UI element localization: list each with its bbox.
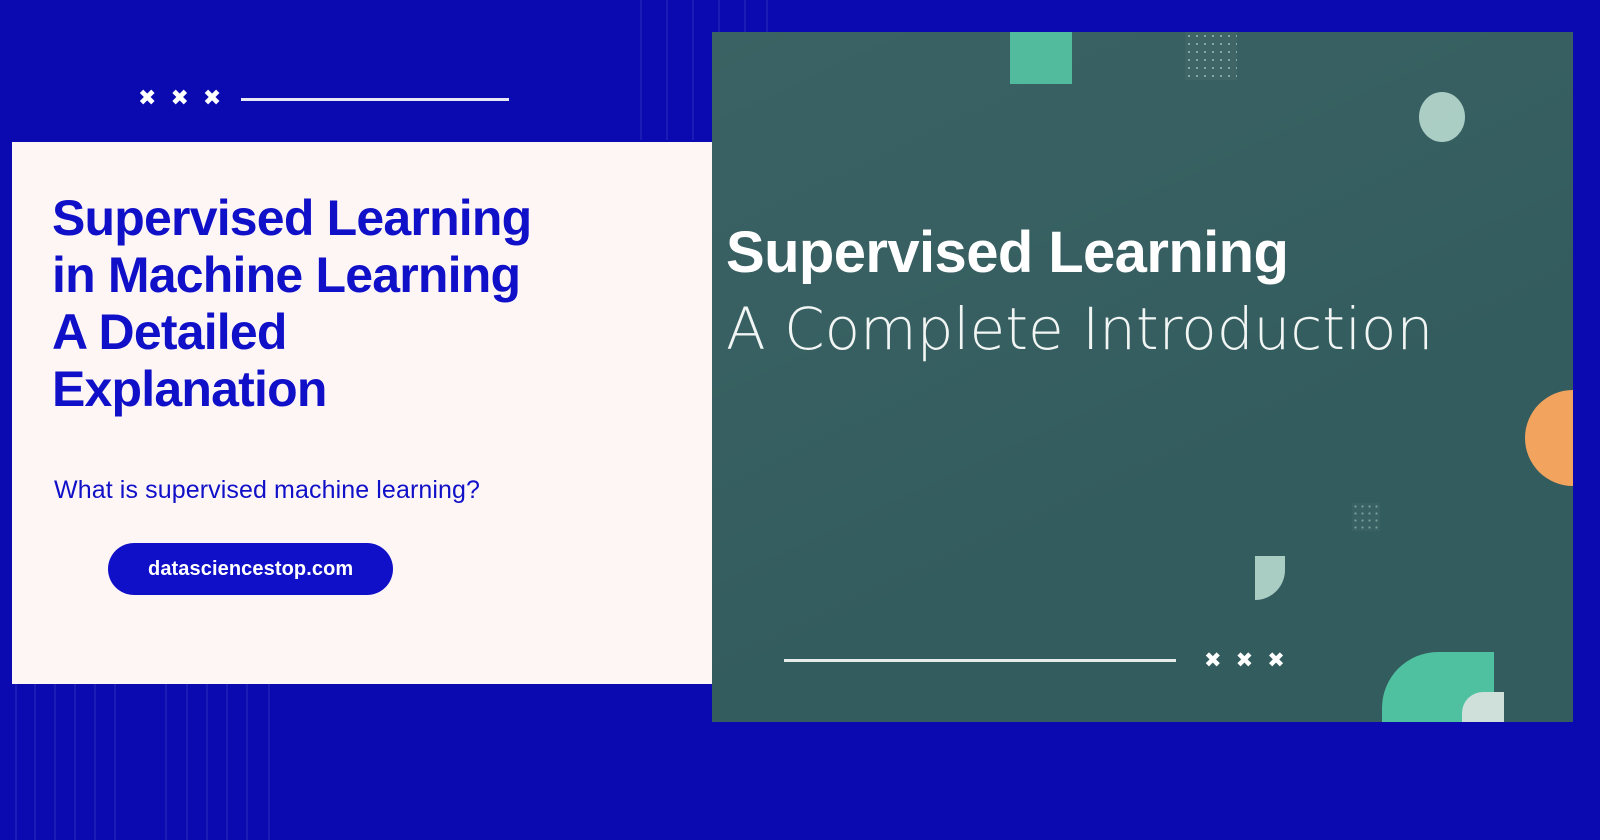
horizontal-rule (784, 659, 1176, 662)
right-card-title: Supervised Learning (726, 220, 1566, 286)
stripe (54, 684, 56, 840)
x-icon: ✖ (1204, 650, 1222, 671)
poster-canvas: ✖ ✖ ✖ Supervised Learning in Machine Lea… (0, 0, 1600, 840)
page-title: Supervised Learning in Machine Learning … (52, 190, 686, 418)
page-subtitle: What is supervised machine learning? (54, 475, 686, 505)
x-marks-group: ✖ ✖ ✖ (1204, 650, 1285, 671)
decorative-green-quarter-circle (1382, 652, 1494, 722)
x-icon: ✖ (170, 88, 188, 110)
x-icon: ✖ (203, 88, 221, 110)
stripe (114, 684, 116, 840)
stripe (246, 684, 248, 840)
decorative-sage-circle (1419, 92, 1465, 142)
stripe (666, 0, 668, 140)
left-content-card: Supervised Learning in Machine Learning … (12, 142, 726, 684)
stripe (94, 684, 96, 840)
x-marks-group: ✖ ✖ ✖ (138, 88, 221, 110)
stripe (186, 684, 188, 840)
stripe (74, 684, 76, 840)
stripe (226, 684, 228, 840)
x-icon: ✖ (138, 88, 156, 110)
x-icon: ✖ (1236, 650, 1254, 671)
website-link-button[interactable]: datasciencestop.com (108, 543, 393, 595)
decorative-green-rectangle (1010, 32, 1072, 84)
right-preview-card[interactable]: Supervised Learning A Complete Introduct… (712, 32, 1573, 722)
horizontal-rule (241, 98, 509, 101)
stripe (206, 684, 208, 840)
top-decoration: ✖ ✖ ✖ (138, 84, 509, 114)
stripe (268, 684, 270, 840)
decorative-dotted-square (1352, 503, 1380, 531)
right-card-heading-group: Supervised Learning A Complete Introduct… (726, 220, 1566, 362)
decorative-sage-quarter-circle (1462, 692, 1504, 722)
decorative-leaf-shape (1255, 556, 1285, 600)
stripe (15, 684, 17, 840)
right-card-subtitle: A Complete Introduction (726, 296, 1566, 362)
stripe (692, 0, 694, 140)
background-stripes-bottom (10, 684, 280, 840)
stripe (640, 0, 642, 140)
decorative-dotted-rectangle (1185, 32, 1237, 80)
x-icon: ✖ (1267, 650, 1285, 671)
decorative-orange-half-circle (1525, 390, 1573, 486)
right-card-bottom-decoration: ✖ ✖ ✖ (784, 648, 1285, 672)
stripe (34, 684, 36, 840)
stripe (165, 684, 167, 840)
